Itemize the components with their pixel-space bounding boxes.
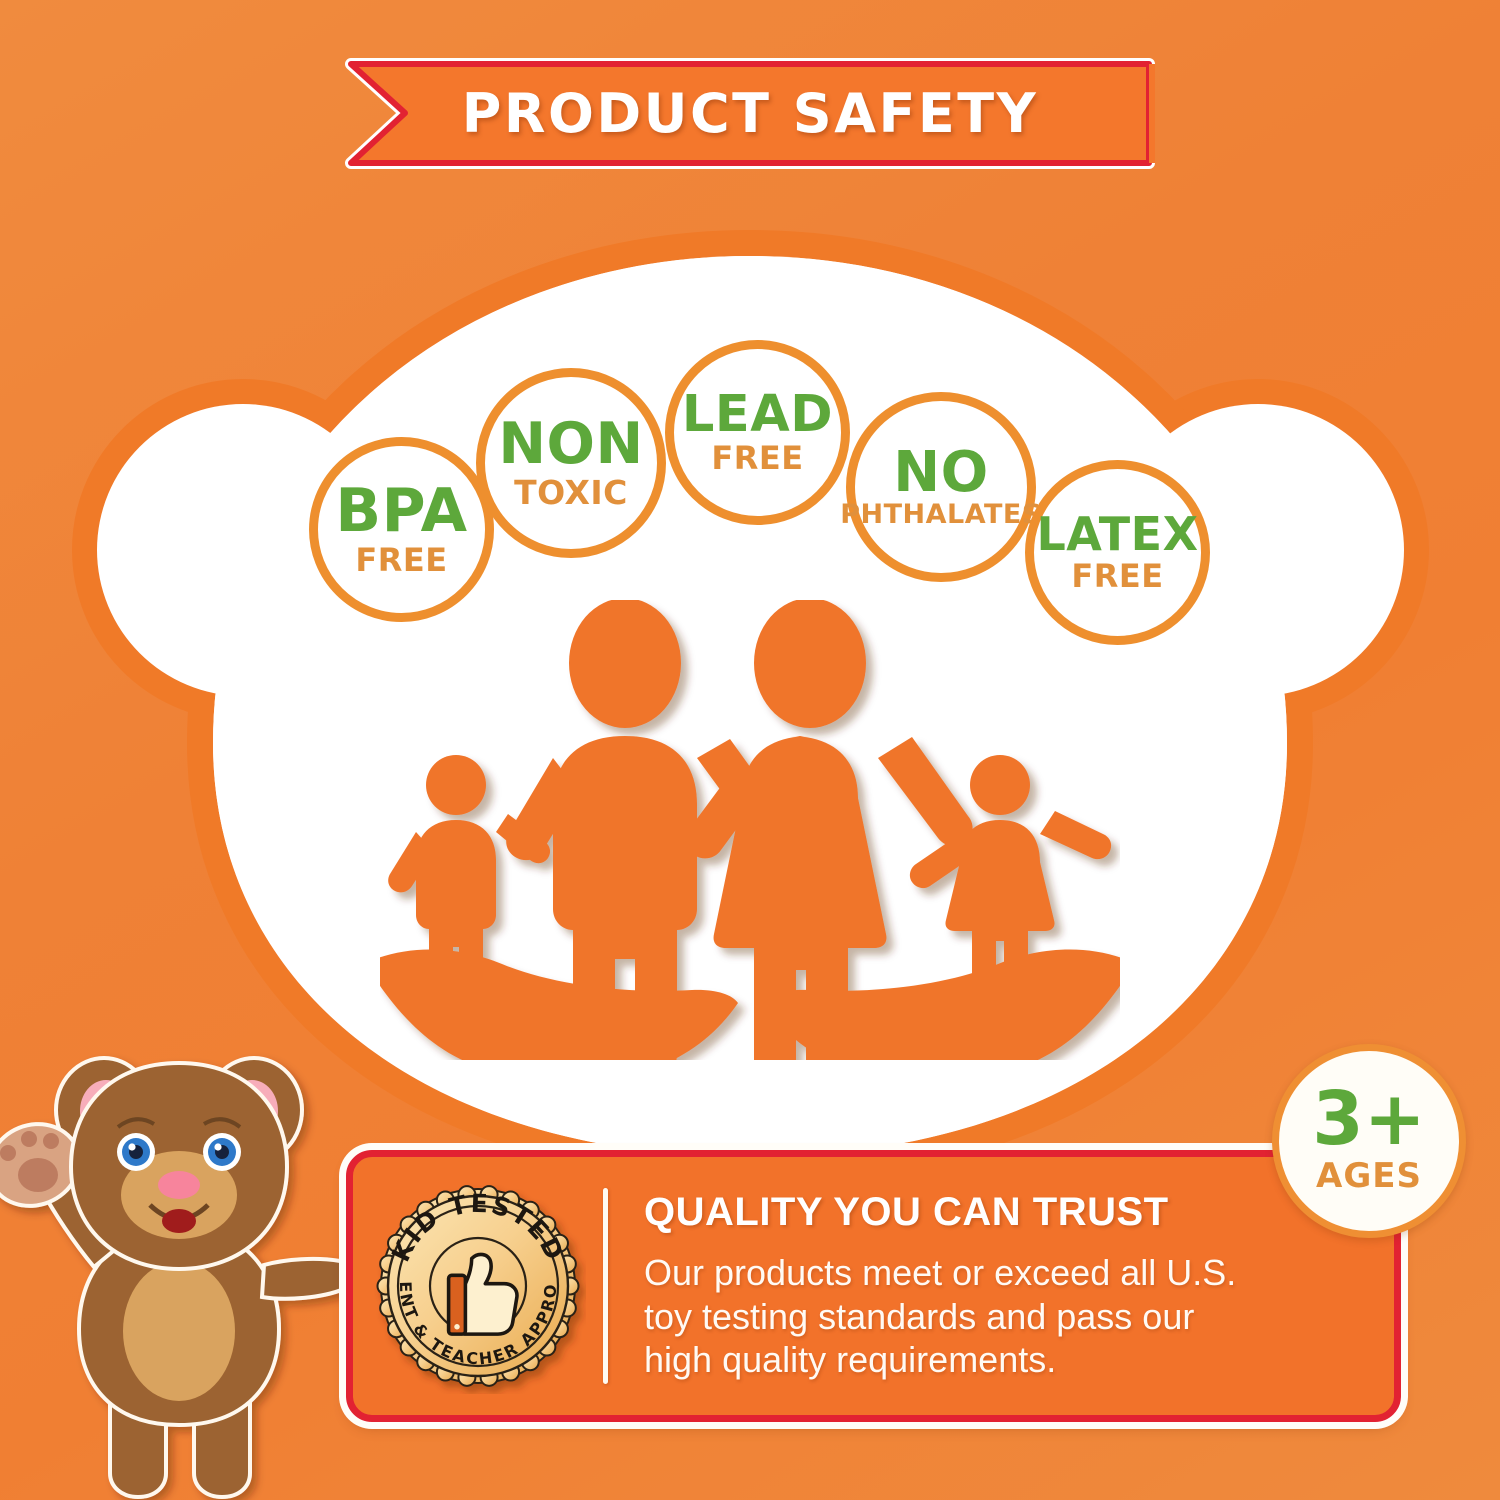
- quality-trust-banner: KID TESTED PARENT & TEACHER APPROVED QUA…: [346, 1150, 1401, 1422]
- infographic-canvas: PRODUCT SAFETY BPA FREE NON TOXIC LEAD F…: [0, 0, 1500, 1500]
- page-title: PRODUCT SAFETY: [345, 56, 1155, 171]
- safety-badge-no-phthalates[interactable]: NO PHTHALATES: [846, 392, 1036, 582]
- ages-badge-label: AGES: [1316, 1156, 1422, 1196]
- safety-badge-bpa-sub: FREE: [355, 544, 447, 576]
- safety-badge-lead-free-main: LEAD: [682, 391, 833, 439]
- safety-badge-latex-free-main: LATEX: [1036, 513, 1198, 557]
- safety-badge-no-phthalates-main: NO: [893, 446, 988, 499]
- bear-tongue: [162, 1209, 196, 1233]
- trust-text-block: QUALITY YOU CAN TRUST Our products meet …: [644, 1190, 1394, 1383]
- safety-badge-latex-free[interactable]: LATEX FREE: [1025, 460, 1210, 645]
- teddy-bear-mascot: [0, 1035, 352, 1500]
- kid-tested-seal[interactable]: KID TESTED PARENT & TEACHER APPROVED: [370, 1178, 586, 1394]
- trust-body-line-1: Our products meet or exceed all U.S.: [644, 1251, 1368, 1295]
- safety-badge-bpa[interactable]: BPA FREE: [309, 437, 494, 622]
- trust-body-line-3: high quality requirements.: [644, 1338, 1368, 1382]
- safety-badge-non-toxic[interactable]: NON TOXIC: [476, 368, 666, 558]
- kid-tested-seal-wrapper: KID TESTED PARENT & TEACHER APPROVED: [353, 1178, 603, 1394]
- safety-badge-lead-free-sub: FREE: [711, 442, 803, 474]
- trust-body: Our products meet or exceed all U.S. toy…: [644, 1251, 1368, 1383]
- safety-badge-lead-free[interactable]: LEAD FREE: [665, 340, 850, 525]
- trust-heading: QUALITY YOU CAN TRUST: [644, 1190, 1368, 1235]
- safety-badge-latex-free-sub: FREE: [1071, 560, 1163, 592]
- safety-badge-bpa-main: BPA: [335, 483, 467, 540]
- page-title-ribbon: PRODUCT SAFETY: [345, 56, 1155, 171]
- bear-arm-right: [262, 1259, 352, 1299]
- safety-badge-non-toxic-main: NON: [498, 417, 643, 471]
- trust-body-line-2: toy testing standards and pass our: [644, 1295, 1368, 1339]
- left-cupped-hand: [380, 949, 738, 1060]
- ages-badge[interactable]: 3+ AGES: [1272, 1044, 1466, 1238]
- bear-belly: [123, 1261, 235, 1401]
- bear-nose: [158, 1171, 200, 1199]
- family-in-hands-illustration: [380, 600, 1120, 1060]
- banner-divider: [603, 1188, 608, 1384]
- ages-badge-number: 3+: [1312, 1086, 1426, 1153]
- safety-badge-non-toxic-sub: TOXIC: [514, 476, 628, 509]
- safety-badge-no-phthalates-sub: PHTHALATES: [840, 501, 1042, 528]
